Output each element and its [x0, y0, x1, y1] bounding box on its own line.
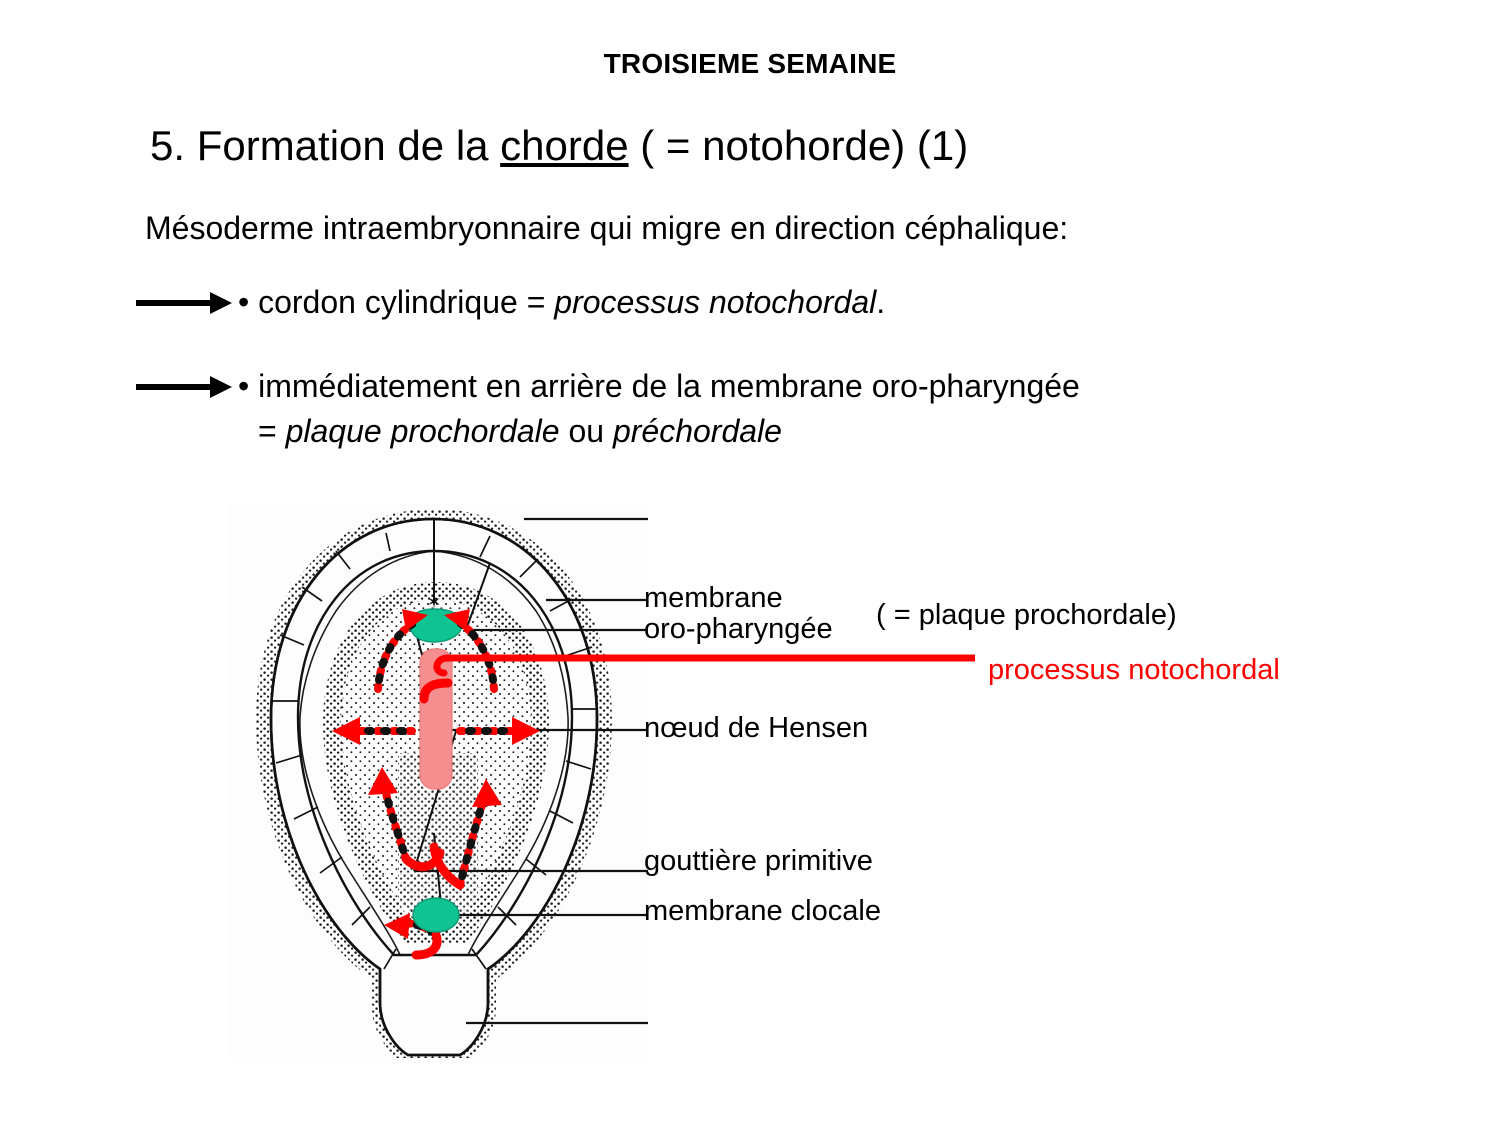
right-arrow-icon: [136, 291, 232, 315]
right-arrow-icon: [136, 375, 232, 399]
intro-line: Mésoderme intraembryonnaire qui migre en…: [145, 210, 1068, 247]
processus-notochordal-shape: [420, 649, 452, 789]
bullet-2-text: • immédiatement en arrière de la membran…: [238, 368, 1080, 405]
bullet-row-1: • cordon cylindrique = processus notocho…: [136, 284, 885, 321]
subline-middle: ou: [560, 413, 613, 449]
label-noeud-de-hensen: nœud de Hensen: [644, 713, 868, 744]
label-processus-notochordal: processus notochordal: [988, 655, 1280, 686]
label-gouttiere-primitive: gouttière primitive: [644, 846, 873, 877]
bullet-2-marker: •: [238, 368, 249, 404]
label-plaque-prochordale: ( = plaque prochordale): [876, 600, 1177, 631]
section-heading-prefix: 5. Formation de la: [150, 122, 500, 169]
bullet-1-marker: •: [238, 284, 249, 320]
bullet-1-text: • cordon cylindrique = processus notocho…: [238, 284, 885, 321]
subline-prefix: =: [258, 413, 286, 449]
bullet-1-italic: processus notochordal: [554, 284, 876, 320]
embryo-diagram-svg: ✶: [228, 503, 648, 1058]
embryonic-disc-figure: ✶: [228, 503, 648, 1058]
section-heading-suffix: ( = notohorde) (1): [629, 122, 969, 169]
section-heading-underlined: chorde: [500, 122, 628, 169]
subline-italic-1: plaque prochordale: [286, 413, 560, 449]
section-heading: 5. Formation de la chorde ( = notohorde)…: [150, 122, 968, 170]
bullet-2-subline: = plaque prochordale ou préchordale: [258, 413, 782, 450]
slide-title: TROISIEME SEMAINE: [0, 48, 1500, 80]
subline-italic-2: préchordale: [613, 413, 782, 449]
label-membrane-oro-line2: oro-pharyngée: [644, 614, 833, 645]
label-membrane-clocale: membrane clocale: [644, 896, 881, 927]
bullet-row-2: • immédiatement en arrière de la membran…: [136, 368, 1080, 405]
bullet-1-tail: .: [876, 284, 885, 320]
bullet-1-plain: cordon cylindrique =: [249, 284, 554, 320]
label-membrane-oro-line1: membrane: [644, 583, 833, 614]
bullet-2-plain: immédiatement en arrière de la membrane …: [249, 368, 1080, 404]
membrane-cloacale-shape: [413, 898, 459, 932]
label-membrane-oro-pharyngee: membrane oro-pharyngée: [644, 583, 833, 644]
